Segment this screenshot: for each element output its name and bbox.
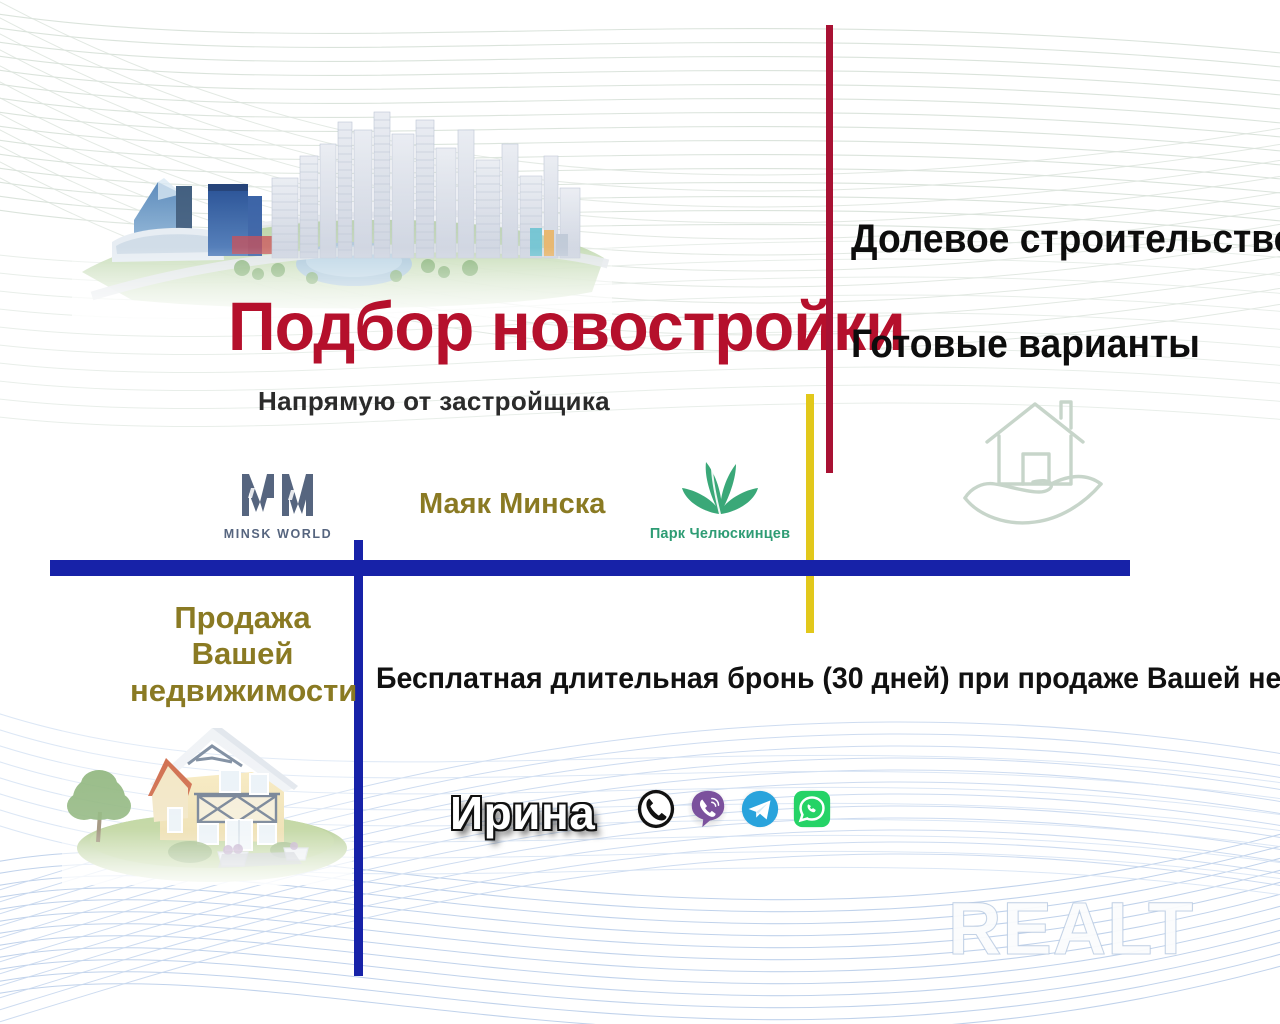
page-title: Подбор новостройки xyxy=(228,292,905,361)
yellow-vertical-divider xyxy=(806,394,814,633)
free-booking-offer: Бесплатная длительная бронь (30 дней) пр… xyxy=(376,662,1280,696)
developer-logo-minsk-world: MINSK WORLD xyxy=(218,468,338,541)
developer-logo-mayak-minska: Маяк Минска xyxy=(419,488,605,521)
minsk-world-wordmark: MINSK WORLD xyxy=(218,527,338,541)
cottage-house-image xyxy=(62,700,352,885)
telegram-icon[interactable] xyxy=(738,787,781,830)
red-vertical-divider xyxy=(826,25,833,473)
blue-horizontal-divider xyxy=(50,560,1130,576)
developer-logo-park-chelyuskintsev: Парк Челюскинцев xyxy=(648,450,792,542)
leaf-icon xyxy=(672,507,768,524)
mw-monogram-icon xyxy=(218,468,338,525)
sell-property-line2: недвижимости xyxy=(130,673,357,708)
viber-icon[interactable] xyxy=(686,787,729,830)
feature-ready-options: Готовые варианты xyxy=(851,322,1200,367)
feature-shared-construction: Долевое строительство xyxy=(851,217,1280,262)
agent-name: Ирина xyxy=(450,786,595,840)
house-in-hand-icon xyxy=(955,392,1115,532)
contact-icons xyxy=(634,787,833,830)
phone-icon[interactable] xyxy=(634,787,677,830)
city-skyline-image xyxy=(72,60,612,320)
realt-watermark: REALT xyxy=(948,886,1194,971)
page-subtitle: Напрямую от застройщика xyxy=(258,386,610,417)
whatsapp-icon[interactable] xyxy=(790,787,833,830)
park-chelyuskintsev-wordmark: Парк Челюскинцев xyxy=(648,526,792,542)
blue-vertical-divider xyxy=(354,540,363,976)
advertisement-poster: Подбор новостройки Напрямую от застройщи… xyxy=(0,0,1280,1024)
sell-property-line1: Продажа Вашей xyxy=(174,600,310,671)
sell-property-title: Продажа Вашей недвижимости xyxy=(130,600,355,709)
